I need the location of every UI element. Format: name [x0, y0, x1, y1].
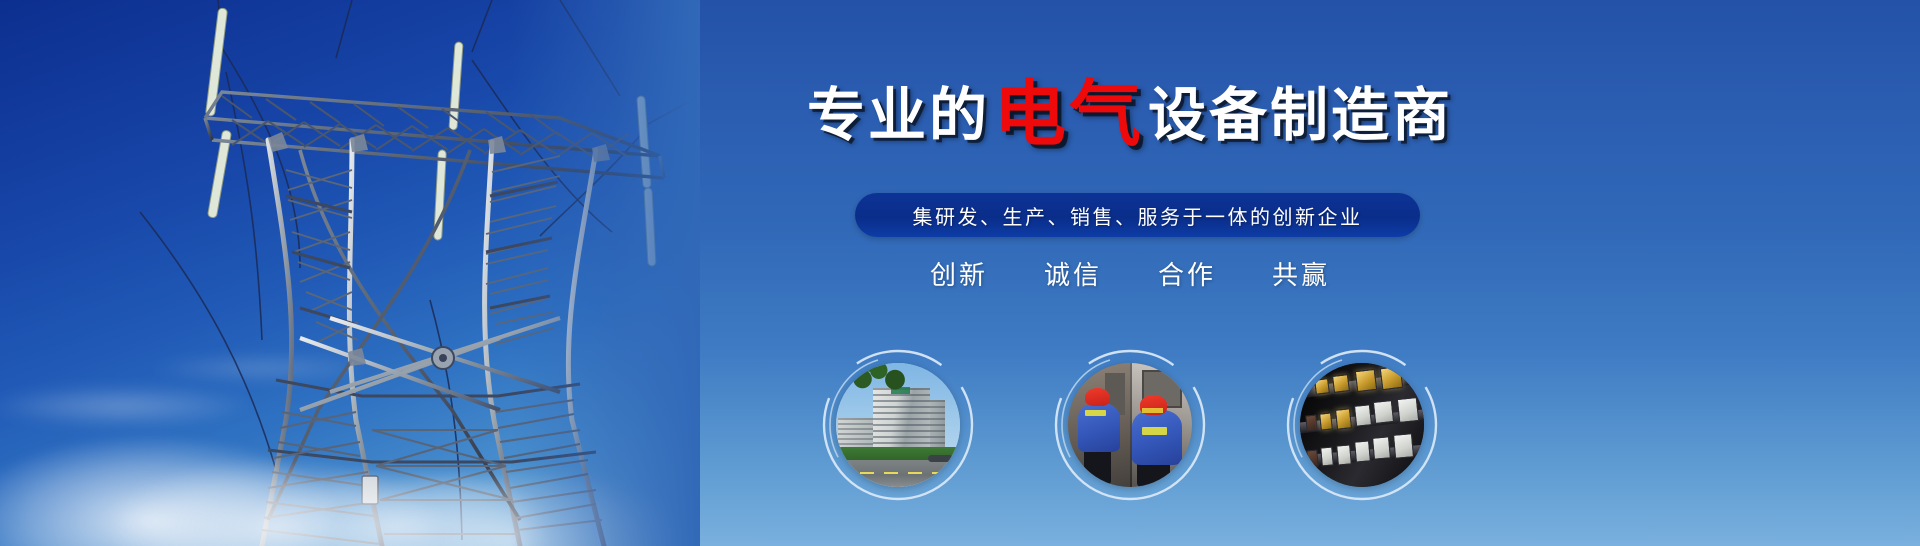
keyword-cooperation: 合作	[1158, 255, 1216, 292]
circle-image-office-building	[836, 363, 960, 487]
photo-circle-certificates	[1296, 345, 1428, 505]
photo-circle-workers	[1064, 345, 1196, 505]
headline-highlight: 电气	[990, 72, 1148, 156]
banner-headline: 专业的电气设备制造商	[660, 78, 1600, 150]
circle-image-certificates	[1300, 363, 1424, 487]
keyword-winwin: 共赢	[1272, 255, 1330, 292]
subtitle-pill: 集研发、生产、销售、服务于一体的创新企业	[855, 193, 1420, 237]
photo-circle-row	[660, 345, 1600, 520]
promotional-banner: 专业的电气设备制造商 集研发、生产、销售、服务于一体的创新企业 创新 诚信 合作…	[0, 0, 1920, 546]
transmission-tower-photo	[0, 0, 700, 546]
photo-circle-office-building	[832, 345, 964, 505]
keyword-integrity: 诚信	[1044, 255, 1102, 292]
headline-part-2: 设备制造商	[1148, 81, 1453, 149]
keyword-row: 创新 诚信 合作 共赢	[660, 255, 1600, 292]
keyword-innovation: 创新	[930, 255, 988, 292]
headline-part-1: 专业的	[807, 81, 990, 149]
subtitle-text: 集研发、生产、销售、服务于一体的创新企业	[913, 201, 1363, 230]
circle-image-workers	[1068, 363, 1192, 487]
